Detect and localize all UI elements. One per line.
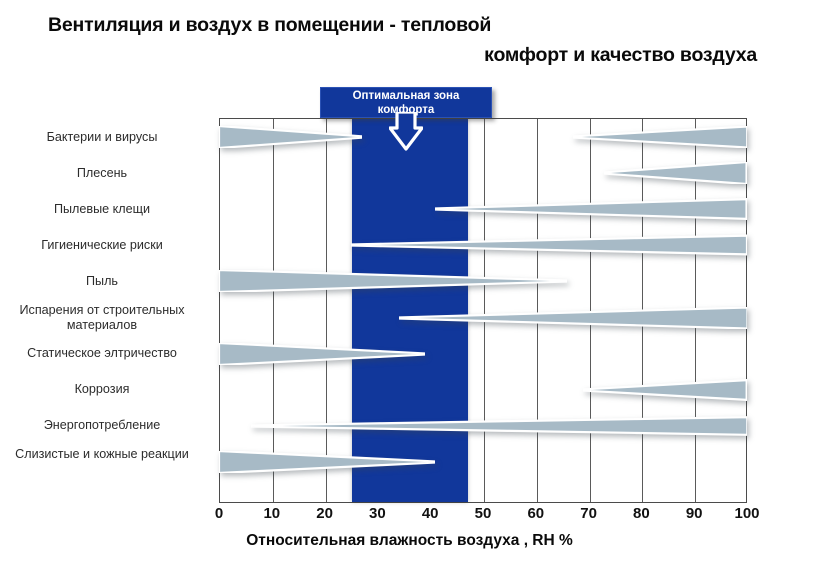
bar-row <box>219 270 747 292</box>
x-tick-20: 20 <box>316 505 333 522</box>
bar-row <box>219 126 747 148</box>
bar-wedge <box>219 126 362 148</box>
bar-wedge <box>399 307 747 329</box>
x-tick-10: 10 <box>263 505 280 522</box>
chart-page: Вентиляция и воздух в помещении - теплов… <box>0 0 819 580</box>
x-tick-30: 30 <box>369 505 386 522</box>
category-label: Энергопотребление <box>0 418 204 433</box>
bar-row <box>219 307 747 329</box>
comfort-zone-callout-line-1: Оптимальная зона <box>353 90 460 102</box>
category-label: Плесень <box>0 166 204 181</box>
category-label: Слизистые и кожные реакции <box>0 447 204 462</box>
x-tick-50: 50 <box>475 505 492 522</box>
x-tick-100: 100 <box>734 505 759 522</box>
category-label: Испарения от строительных материалов <box>0 303 204 333</box>
x-tick-80: 80 <box>633 505 650 522</box>
x-tick-70: 70 <box>580 505 597 522</box>
bar-wedge <box>573 126 747 148</box>
bar-row <box>219 451 747 473</box>
bar-wedge <box>219 451 435 473</box>
bar-wedge <box>219 270 567 292</box>
category-label: Статическое элтричество <box>0 346 204 361</box>
bar-wedge <box>604 162 747 184</box>
category-label-list: Бактерии и вирусыПлесеньПылевые клещиГиг… <box>0 118 212 503</box>
x-axis-ticks: 0102030405060708090100 <box>219 505 747 527</box>
bar-row <box>219 415 747 437</box>
category-label: Бактерии и вирусы <box>0 130 204 145</box>
x-tick-90: 90 <box>686 505 703 522</box>
bar-row <box>219 379 747 401</box>
bar-row <box>219 343 747 365</box>
x-tick-0: 0 <box>215 505 223 522</box>
bar-row <box>219 162 747 184</box>
bar-wedge <box>583 379 747 401</box>
bar-wedge <box>435 198 747 220</box>
bar-row <box>219 198 747 220</box>
category-label: Гигиенические риски <box>0 238 204 253</box>
bar-wedge <box>251 415 747 437</box>
category-label: Пыль <box>0 274 204 289</box>
bar-wedge <box>351 234 747 256</box>
x-axis-title: Относительная влажность воздуха , RH % <box>0 532 819 550</box>
x-tick-60: 60 <box>527 505 544 522</box>
chart-title-line-1: Вентиляция и воздух в помещении - теплов… <box>0 10 819 40</box>
category-label: Коррозия <box>0 382 204 397</box>
x-tick-40: 40 <box>422 505 439 522</box>
bar-row <box>219 234 747 256</box>
category-label: Пылевые клещи <box>0 202 204 217</box>
chart-title: Вентиляция и воздух в помещении - теплов… <box>0 10 819 70</box>
down-arrow-icon <box>389 112 423 152</box>
bar-wedge <box>219 343 425 365</box>
chart-title-line-2: комфорт и качество воздуха <box>0 40 819 70</box>
bar-rows <box>219 118 747 503</box>
